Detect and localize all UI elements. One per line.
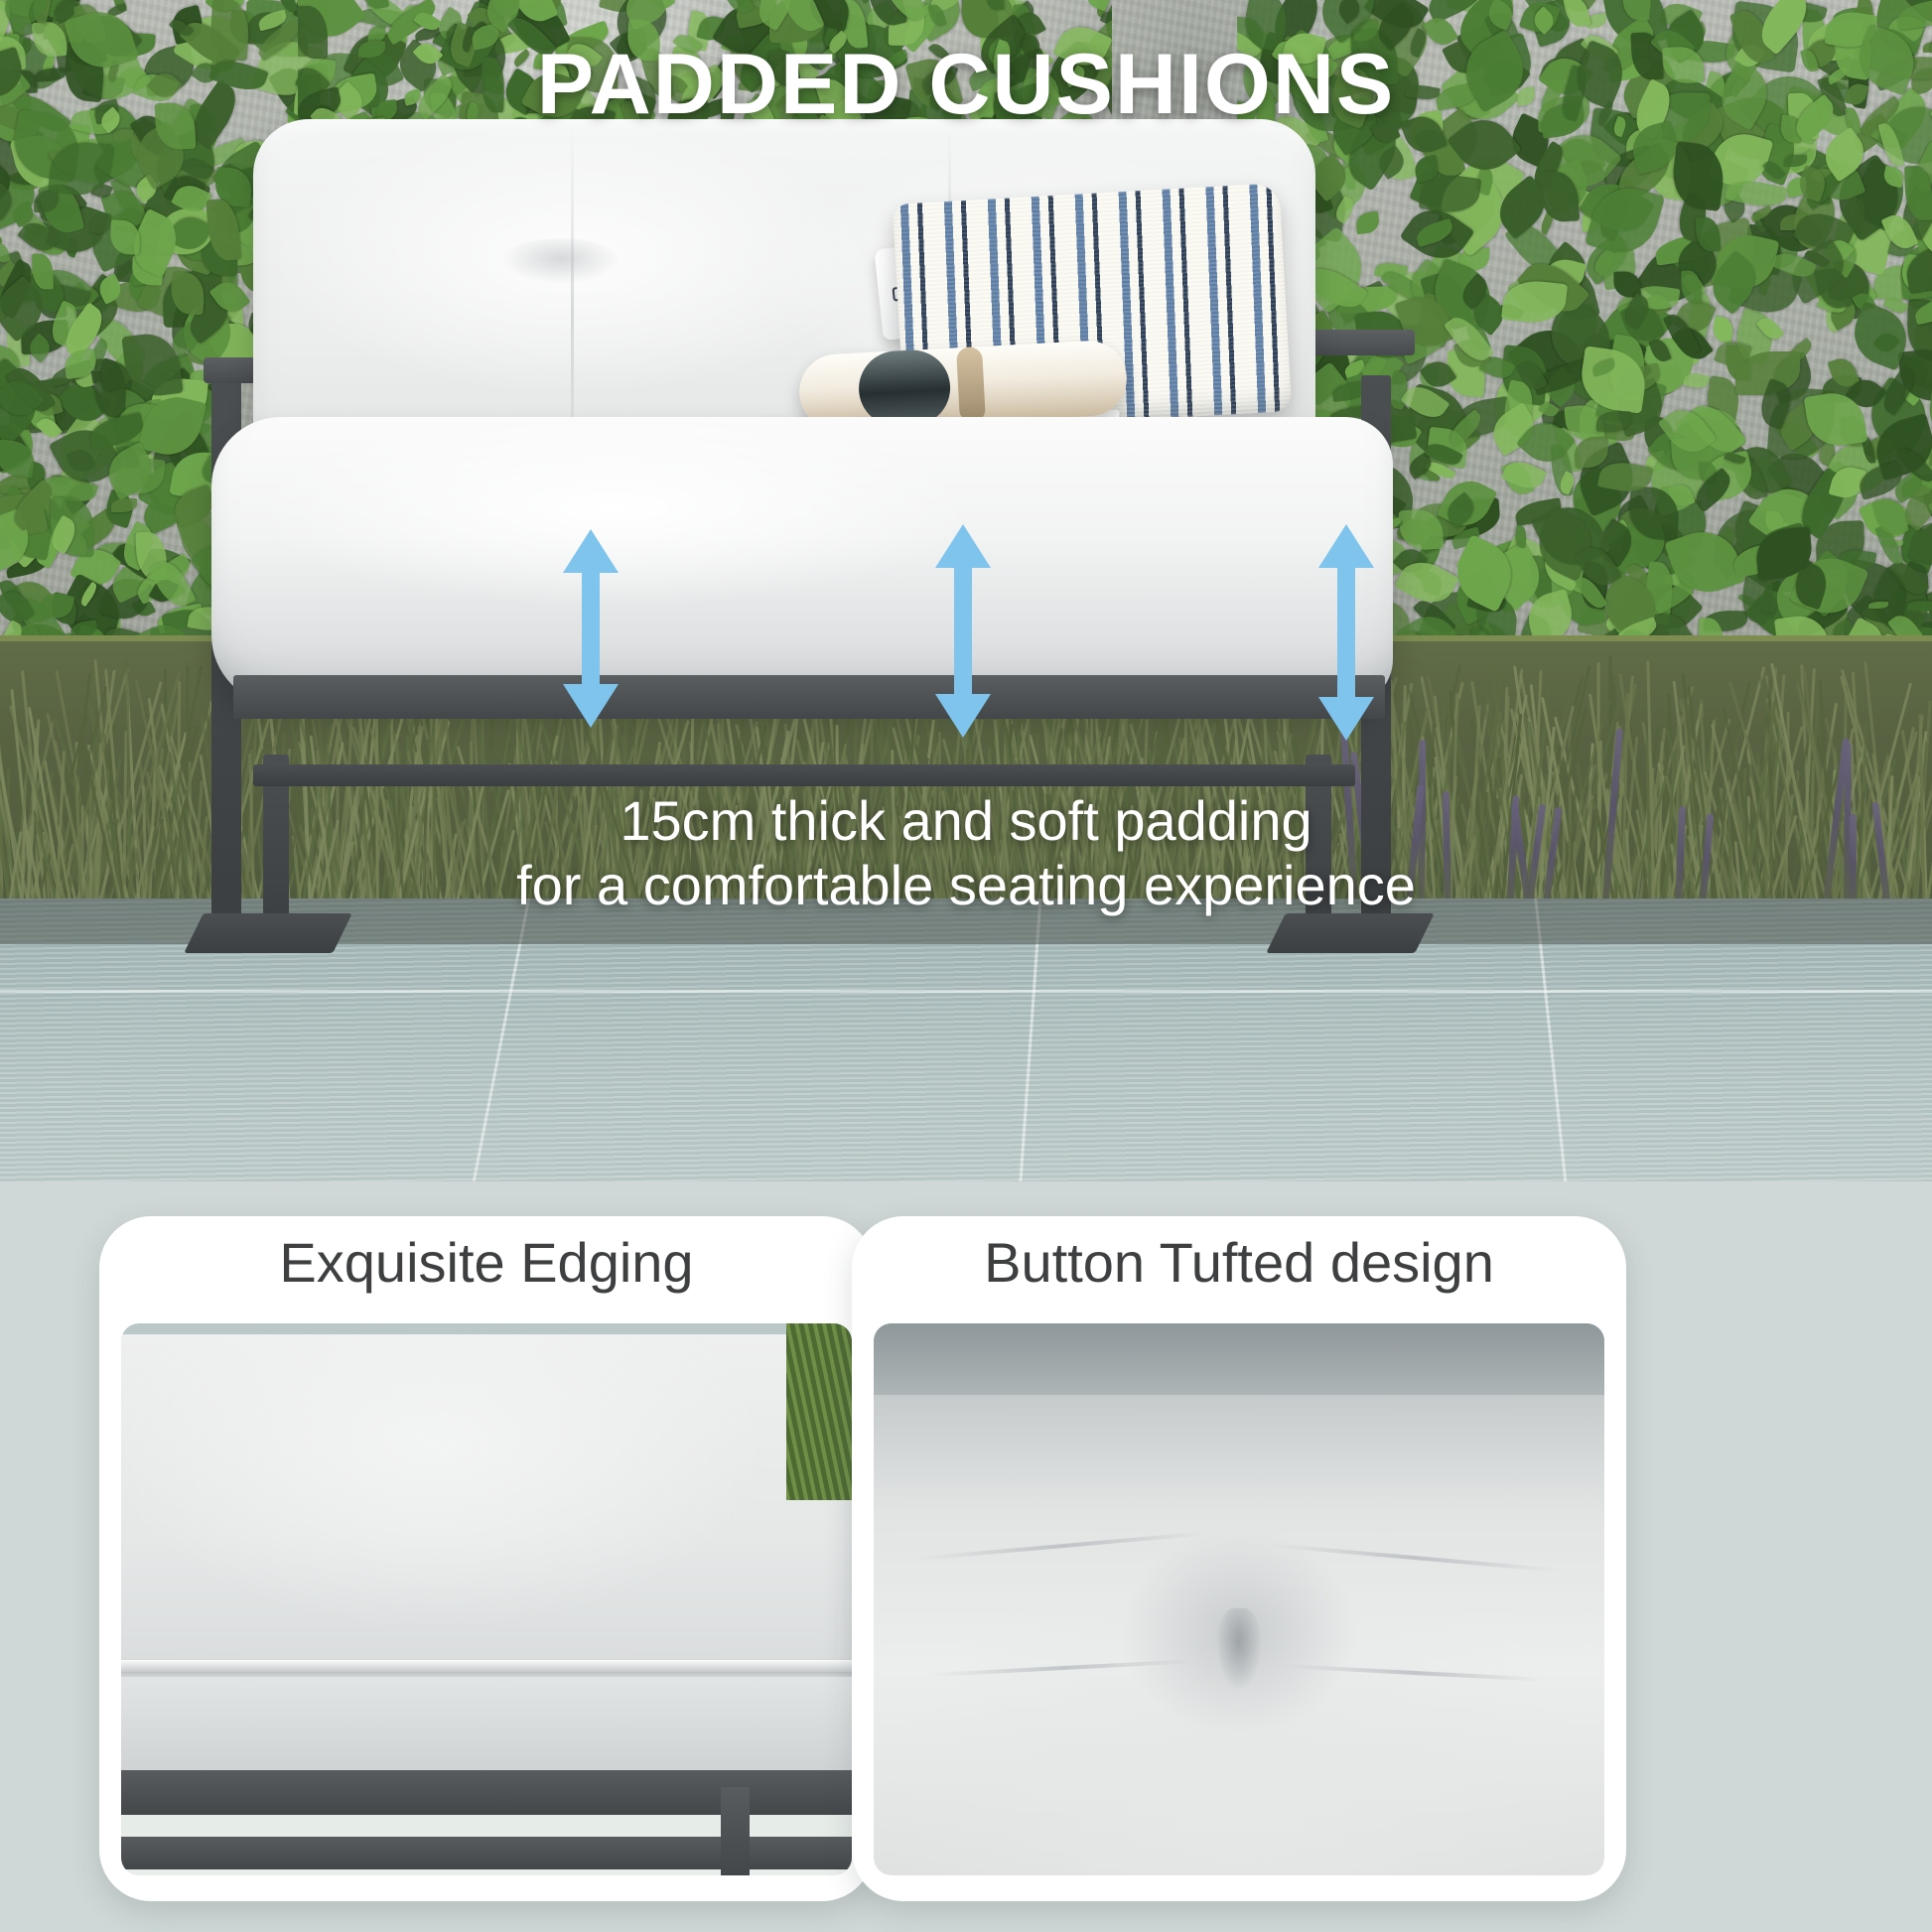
- feature-card-title: Exquisite Edging: [99, 1230, 874, 1295]
- subtitle-text: 15cm thick and soft padding for a comfor…: [0, 789, 1932, 918]
- subtitle-line-1: 15cm thick and soft padding: [620, 789, 1311, 852]
- cushion-edging-closeup-photo: [121, 1323, 852, 1875]
- cushion-body: [121, 1334, 852, 1699]
- arrow-shaft: [582, 563, 600, 694]
- button-tuft: [501, 238, 621, 284]
- feature-card-edging[interactable]: Exquisite Edging: [99, 1216, 874, 1901]
- fabric-fold: [1269, 1543, 1561, 1573]
- hero-scene: PADDED CUSHIONS 15cm thick and soft padd…: [0, 0, 1932, 1181]
- cushion-skirt: [121, 1677, 852, 1771]
- product-feature-graphic: PADDED CUSHIONS 15cm thick and soft padd…: [0, 0, 1932, 1932]
- arrow-shaft: [954, 558, 972, 704]
- leaf: [0, 241, 10, 264]
- arrow-shaft: [1337, 558, 1355, 707]
- arrow-head-down-icon: [563, 684, 619, 728]
- frame-foot-right: [1266, 913, 1435, 953]
- arm-top-right: [1306, 330, 1415, 355]
- frame-foot-left: [184, 913, 352, 953]
- leaf: [111, 498, 137, 512]
- leaf: [1515, 525, 1528, 548]
- cushion-thickness-arrow: [935, 524, 991, 738]
- leaf: [1711, 316, 1734, 344]
- arrow-head-down-icon: [935, 694, 991, 738]
- page-title: PADDED CUSHIONS: [0, 40, 1932, 129]
- cushion-thickness-arrow: [1318, 524, 1374, 741]
- fabric-fold: [1283, 1664, 1546, 1682]
- fabric-fold: [918, 1532, 1210, 1562]
- feature-card-title: Button Tufted design: [852, 1230, 1626, 1295]
- tuft-photo-canvas: [874, 1323, 1604, 1875]
- frame-front-apron: [233, 675, 1385, 719]
- magazine-band: [956, 346, 986, 423]
- subtitle-line-2: for a comfortable seating experience: [0, 854, 1932, 918]
- piping-line: [121, 1660, 852, 1672]
- fabric-fold: [932, 1659, 1195, 1677]
- edging-photo-canvas: [121, 1323, 852, 1875]
- tile-seam: [0, 990, 1932, 993]
- cushion-top-edge: [874, 1323, 1604, 1395]
- button-tuft-closeup-photo: [874, 1323, 1604, 1875]
- button-tuft-dimple: [1216, 1607, 1262, 1691]
- background-grass: [786, 1323, 852, 1500]
- frame-cross-rail: [253, 764, 1355, 786]
- arrow-head-down-icon: [1318, 697, 1374, 741]
- feature-card-tufting[interactable]: Button Tufted design: [852, 1216, 1626, 1901]
- cushion-thickness-arrow: [563, 529, 619, 728]
- frame-leg: [721, 1787, 750, 1875]
- seat-cushion: [211, 417, 1393, 705]
